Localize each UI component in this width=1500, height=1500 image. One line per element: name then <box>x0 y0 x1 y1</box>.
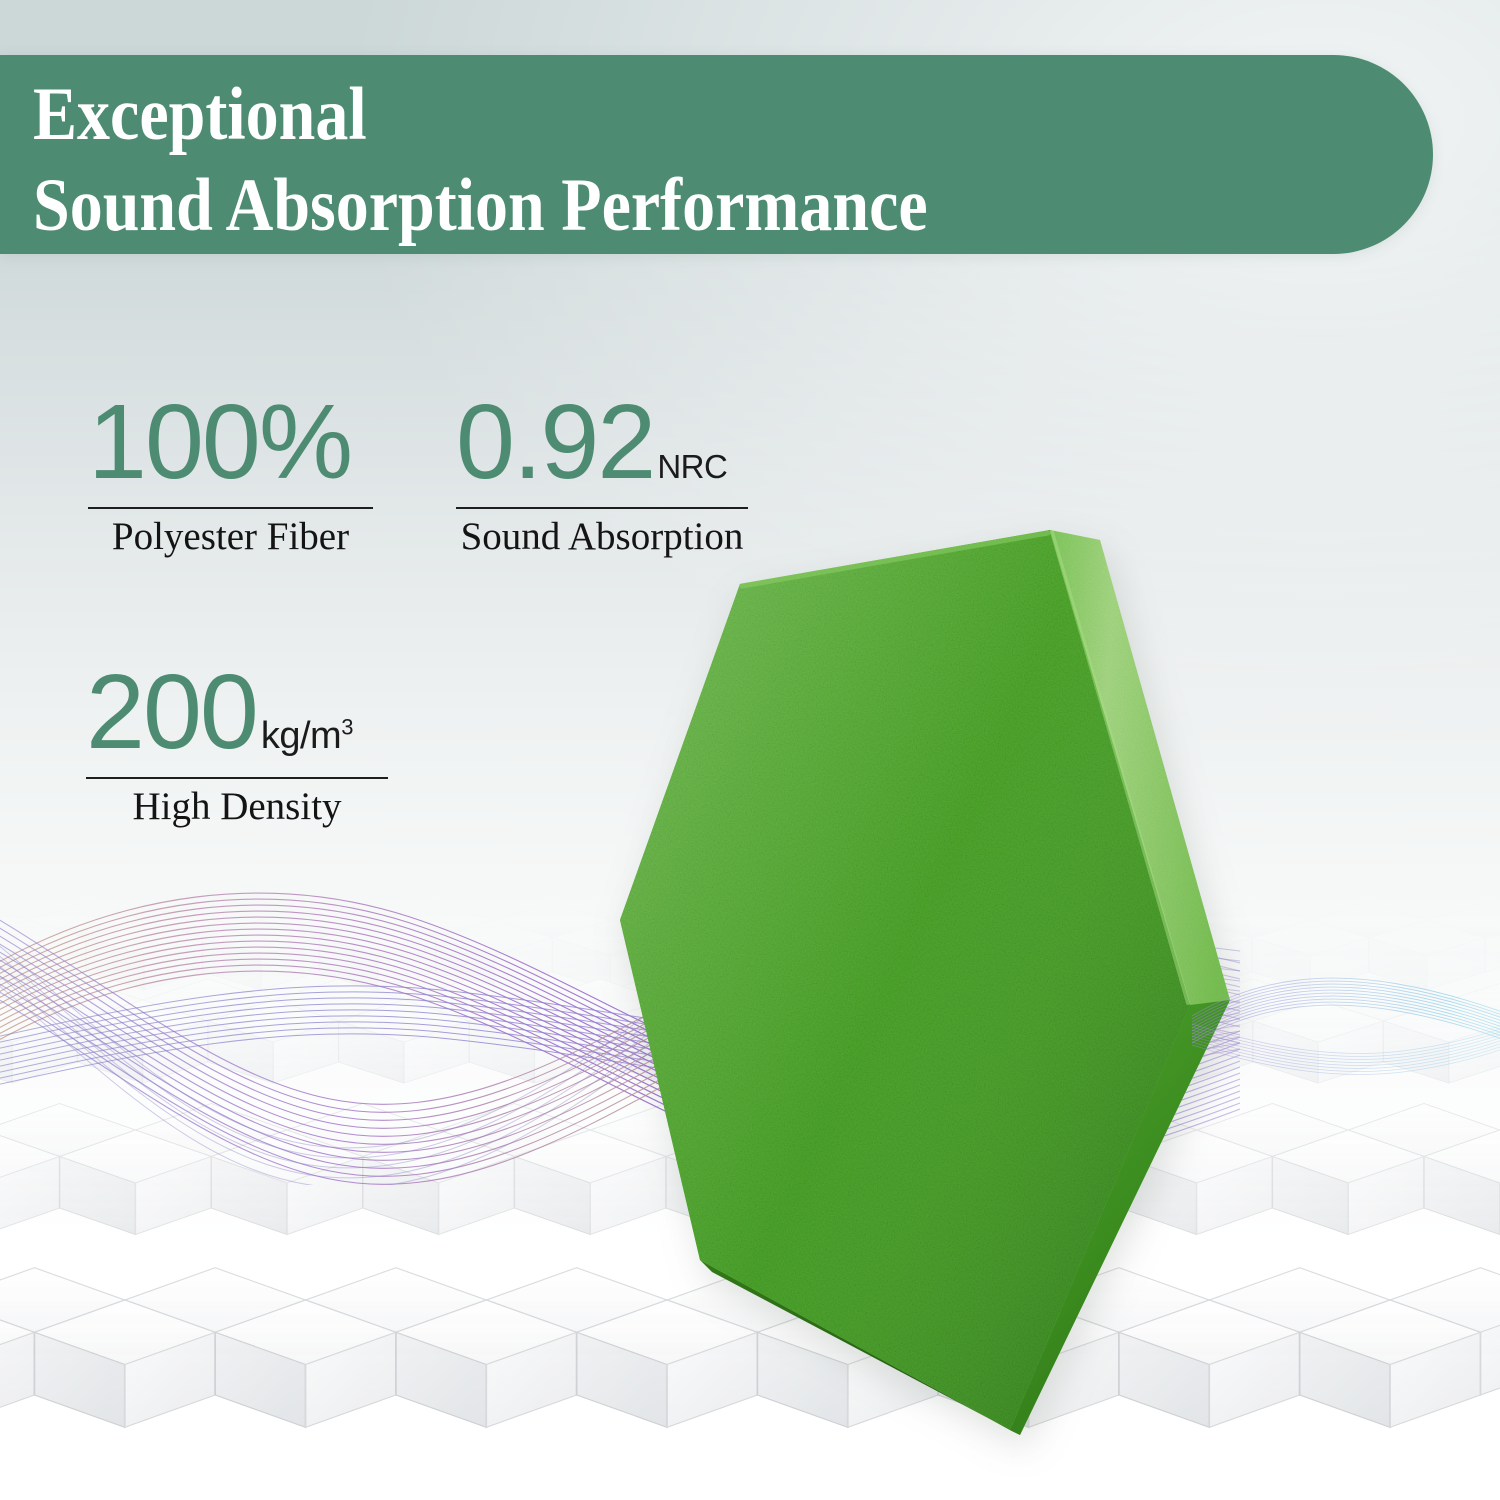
banner-title-line-1: Exceptional <box>33 77 1203 152</box>
stat-divider <box>86 777 388 779</box>
stat-divider <box>456 507 748 509</box>
stat-number: 200 <box>86 662 257 763</box>
isometric-cube-honeycomb-pattern <box>0 880 1500 1500</box>
stat-label: Polyester Fiber <box>88 517 373 558</box>
stat-label: Sound Absorption <box>456 517 748 558</box>
stat-number: 100% <box>88 392 351 493</box>
stat-value-row: 100% <box>88 392 373 493</box>
stat-nrc: 0.92 NRC Sound Absorption <box>456 392 748 558</box>
stat-polyester-fiber: 100% Polyester Fiber <box>88 392 373 558</box>
header-banner: Exceptional Sound Absorption Performance <box>0 55 1433 254</box>
stat-high-density: 200 kg/m3 High Density <box>86 662 388 828</box>
stat-unit: NRC <box>657 450 727 483</box>
stat-value-row: 200 kg/m3 <box>86 662 388 763</box>
stat-unit-text: kg/m <box>261 715 341 757</box>
stat-number: 0.92 <box>456 392 654 493</box>
stat-divider <box>88 507 373 509</box>
banner-title-line-2: Sound Absorption Performance <box>33 168 1203 243</box>
stat-label: High Density <box>86 787 388 828</box>
product-feature-image: Exceptional Sound Absorption Performance <box>0 0 1500 1500</box>
banner-title: Exceptional Sound Absorption Performance <box>33 63 1363 243</box>
stat-unit: kg/m3 <box>261 717 353 755</box>
stat-value-row: 0.92 NRC <box>456 392 748 493</box>
stat-unit-superscript: 3 <box>341 714 353 739</box>
